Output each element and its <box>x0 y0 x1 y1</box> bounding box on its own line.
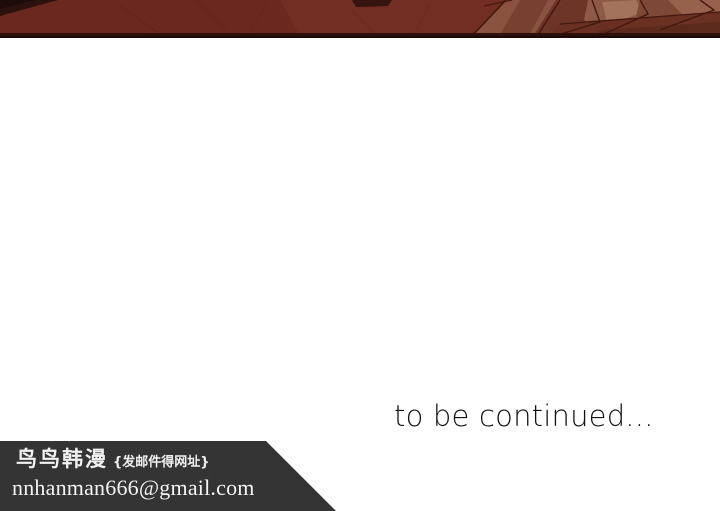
panel-shade-left <box>0 0 320 36</box>
page-canvas: to be continued... 鸟鸟韩漫 {发邮件得网址} nnhanma… <box>0 0 720 511</box>
comic-panel-artwork <box>0 0 720 38</box>
to-be-continued-text: to be continued... <box>394 398 694 434</box>
panel-dark-notch-center <box>352 0 392 7</box>
watermark-title-row: 鸟鸟韩漫 {发邮件得网址} <box>16 447 210 473</box>
watermark-tagline: {发邮件得网址} <box>113 454 210 472</box>
watermark-brand-name: 鸟鸟韩漫 <box>16 447 108 471</box>
watermark-email: nnhanman666@gmail.com <box>12 474 255 502</box>
comic-panel <box>0 0 720 38</box>
white-reading-area <box>0 38 720 511</box>
